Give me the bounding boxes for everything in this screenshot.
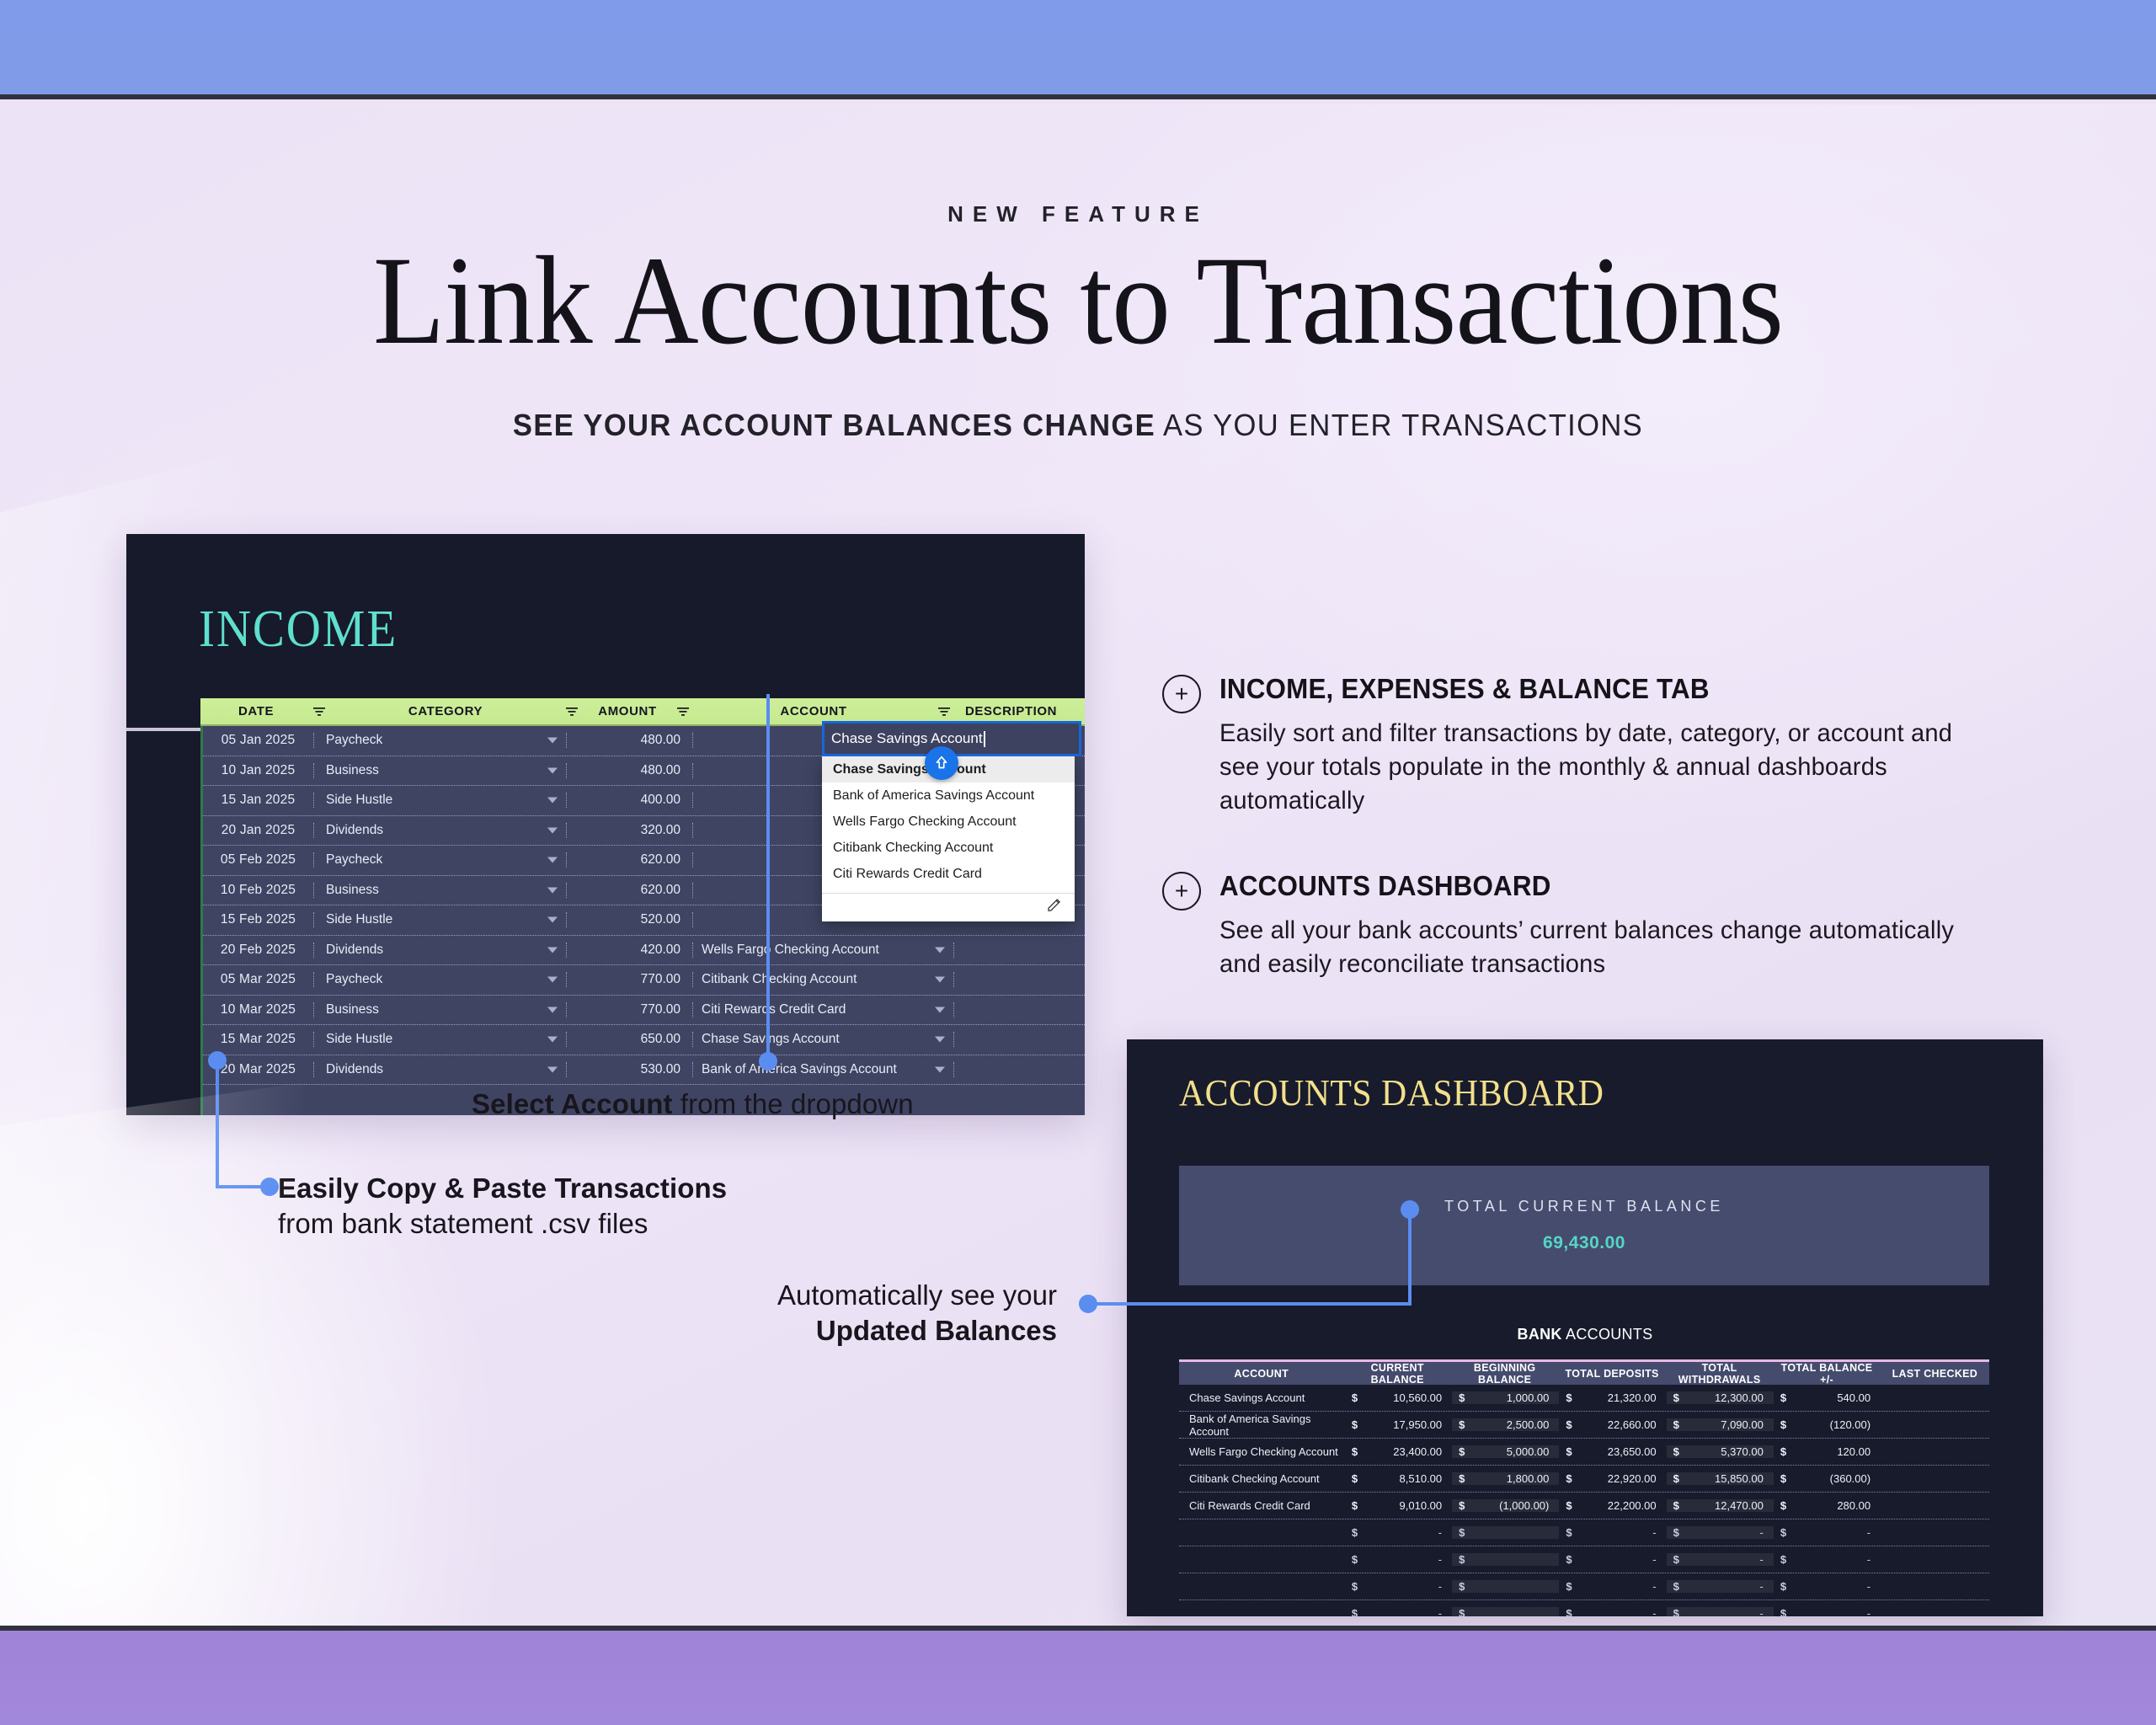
- subtitle-strong: SEE YOUR ACCOUNT BALANCES CHANGE: [513, 408, 1155, 442]
- money-value: -: [1367, 1553, 1452, 1566]
- money-value: -: [1689, 1607, 1774, 1616]
- cell-money[interactable]: $-: [1559, 1607, 1666, 1616]
- cell-money[interactable]: $120.00: [1774, 1445, 1881, 1458]
- bank-col-total-balance-pm: TOTAL BALANCE +/-: [1773, 1362, 1880, 1386]
- cell-amount[interactable]: 770.00: [567, 972, 693, 987]
- cell-account[interactable]: Chase Savings Account: [693, 1032, 954, 1047]
- currency-symbol: $: [1452, 1472, 1474, 1485]
- cell-money[interactable]: $-: [1559, 1553, 1666, 1566]
- total-current-balance-card: TOTAL CURRENT BALANCE 69,430.00: [1179, 1166, 1989, 1285]
- currency-symbol: $: [1667, 1445, 1689, 1458]
- chevron-down-icon[interactable]: [935, 977, 945, 983]
- currency-symbol: $: [1452, 1553, 1474, 1566]
- money-value: -: [1796, 1607, 1881, 1616]
- bank-col-beginning-balance: BEGINNING BALANCE: [1451, 1362, 1558, 1386]
- cell-amount[interactable]: 400.00: [567, 793, 693, 808]
- currency-symbol: $: [1559, 1499, 1581, 1512]
- currency-symbol: $: [1452, 1391, 1474, 1404]
- money-value: (1,000.00): [1474, 1499, 1559, 1512]
- cell-money[interactable]: $(120.00): [1774, 1418, 1881, 1431]
- cell-money[interactable]: $8,510.00: [1345, 1472, 1452, 1485]
- dropdown-option[interactable]: Wells Fargo Checking Account: [822, 809, 1075, 835]
- money-value: 23,400.00: [1367, 1445, 1452, 1458]
- table-row[interactable]: $-$$-$-$-: [1179, 1600, 1989, 1616]
- chevron-down-icon[interactable]: [547, 947, 558, 953]
- dropdown-option[interactable]: Bank of America Savings Account: [822, 782, 1075, 809]
- currency-symbol: $: [1667, 1391, 1689, 1404]
- cell-category[interactable]: Paycheck: [314, 972, 567, 987]
- filter-icon-category[interactable]: [564, 707, 579, 717]
- table-row[interactable]: Citi Rewards Credit Card$9,010.00$(1,000…: [1179, 1493, 1989, 1519]
- cell-category[interactable]: Side Hustle: [314, 793, 567, 808]
- cell-date[interactable]: 05 Feb 2025: [203, 852, 314, 868]
- table-row[interactable]: 20 Mar 2025Dividends530.00Bank of Americ…: [203, 1055, 1085, 1086]
- currency-symbol: $: [1774, 1607, 1796, 1616]
- currency-symbol: $: [1559, 1553, 1581, 1566]
- cell-date[interactable]: 15 Mar 2025: [203, 1032, 314, 1047]
- cursor-badge-icon: [925, 746, 958, 780]
- filter-icon-amount[interactable]: [675, 707, 691, 717]
- cell-money[interactable]: $: [1452, 1607, 1559, 1616]
- currency-symbol: $: [1774, 1445, 1796, 1458]
- feature-item-accounts-dashboard: + ACCOUNTS DASHBOARD See all your bank a…: [1162, 870, 1996, 981]
- cell-date[interactable]: 05 Jan 2025: [203, 733, 314, 748]
- cell-money[interactable]: $23,400.00: [1345, 1445, 1452, 1458]
- filter-icon-account[interactable]: [937, 707, 952, 717]
- currency-symbol: $: [1452, 1526, 1474, 1539]
- dropdown-option[interactable]: Citibank Checking Account: [822, 835, 1075, 861]
- cell-account-name[interactable]: Bank of America Savings Account: [1179, 1413, 1345, 1438]
- currency-symbol: $: [1345, 1445, 1367, 1458]
- chevron-down-icon[interactable]: [547, 827, 558, 833]
- money-value: -: [1581, 1553, 1666, 1566]
- money-value: -: [1367, 1607, 1452, 1616]
- cell-date[interactable]: 15 Feb 2025: [203, 912, 314, 927]
- table-row[interactable]: Citibank Checking Account$8,510.00$1,800…: [1179, 1466, 1989, 1493]
- currency-symbol: $: [1559, 1391, 1581, 1404]
- poster-stage: NEW FEATURE Link Accounts to Transaction…: [0, 104, 2156, 1626]
- cell-money[interactable]: $-: [1667, 1526, 1774, 1539]
- cell-money[interactable]: $280.00: [1774, 1499, 1881, 1512]
- cell-amount[interactable]: 530.00: [567, 1062, 693, 1077]
- currency-symbol: $: [1452, 1418, 1474, 1431]
- table-row[interactable]: 10 Mar 2025Business770.00Citi Rewards Cr…: [203, 996, 1085, 1026]
- top-decorative-band: [0, 0, 2156, 99]
- currency-symbol: $: [1559, 1418, 1581, 1431]
- cell-account[interactable]: Citibank Checking Account: [693, 972, 954, 987]
- cell-category[interactable]: Dividends: [314, 1062, 567, 1077]
- money-value: 23,650.00: [1581, 1445, 1666, 1458]
- cell-account-name[interactable]: Citibank Checking Account: [1179, 1472, 1345, 1485]
- bank-col-total-withdrawals: TOTAL WITHDRAWALS: [1666, 1362, 1773, 1386]
- money-value: 5,370.00: [1689, 1445, 1774, 1458]
- cell-money[interactable]: $21,320.00: [1559, 1391, 1666, 1404]
- subtitle-light: AS YOU ENTER TRANSACTIONS: [1155, 408, 1643, 442]
- currency-symbol: $: [1774, 1553, 1796, 1566]
- currency-symbol: $: [1452, 1499, 1474, 1512]
- cell-amount[interactable]: 480.00: [567, 733, 693, 748]
- money-value: 12,300.00: [1689, 1391, 1774, 1404]
- cell-money[interactable]: $-: [1559, 1580, 1666, 1593]
- cell-money[interactable]: $-: [1345, 1580, 1452, 1593]
- cell-account[interactable]: Bank of America Savings Account: [693, 1062, 954, 1077]
- account-cell-editor-value: Chase Savings Account: [831, 730, 983, 747]
- cell-money[interactable]: $-: [1774, 1580, 1881, 1593]
- page-subtitle: SEE YOUR ACCOUNT BALANCES CHANGE AS YOU …: [43, 408, 2113, 443]
- cell-money[interactable]: $: [1452, 1580, 1559, 1593]
- currency-symbol: $: [1345, 1472, 1367, 1485]
- column-header-date[interactable]: DATE: [200, 698, 312, 724]
- currency-symbol: $: [1774, 1526, 1796, 1539]
- plus-circle-icon: +: [1162, 675, 1201, 713]
- text-caret: [984, 731, 985, 747]
- money-value: (360.00): [1796, 1472, 1881, 1485]
- money-value: -: [1796, 1526, 1881, 1539]
- page-title: Link Accounts to Transactions: [76, 235, 2081, 368]
- money-value: 17,950.00: [1367, 1418, 1452, 1431]
- currency-symbol: $: [1345, 1607, 1367, 1616]
- cell-category[interactable]: Paycheck: [314, 733, 567, 748]
- callout-updated-balances: Automatically see your Updated Balances: [670, 1279, 1057, 1347]
- chevron-down-icon[interactable]: [547, 738, 558, 744]
- cell-amount[interactable]: 320.00: [567, 823, 693, 838]
- money-value: 5,000.00: [1474, 1445, 1559, 1458]
- cell-money[interactable]: $5,000.00: [1452, 1445, 1559, 1458]
- money-value: -: [1581, 1607, 1666, 1616]
- dropdown-option[interactable]: Citi Rewards Credit Card: [822, 861, 1075, 887]
- chevron-down-icon[interactable]: [935, 1007, 945, 1012]
- cell-amount[interactable]: 770.00: [567, 1002, 693, 1017]
- cell-date[interactable]: 05 Mar 2025: [203, 972, 314, 987]
- money-value: -: [1796, 1580, 1881, 1593]
- money-value: -: [1796, 1553, 1881, 1566]
- cell-money[interactable]: $9,010.00: [1345, 1499, 1452, 1512]
- feature-title: ACCOUNTS DASHBOARD: [1219, 870, 1957, 902]
- currency-symbol: $: [1345, 1580, 1367, 1593]
- currency-symbol: $: [1559, 1472, 1581, 1485]
- cell-date[interactable]: 20 Feb 2025: [203, 943, 314, 958]
- cell-money[interactable]: $2,500.00: [1452, 1418, 1559, 1431]
- money-value: 2,500.00: [1474, 1418, 1559, 1431]
- currency-symbol: $: [1452, 1580, 1474, 1593]
- cell-money[interactable]: $17,950.00: [1345, 1418, 1452, 1431]
- cell-money[interactable]: $22,200.00: [1559, 1499, 1666, 1512]
- money-value: 9,010.00: [1367, 1499, 1452, 1512]
- cell-amount[interactable]: 420.00: [567, 943, 693, 958]
- currency-symbol: $: [1559, 1607, 1581, 1616]
- cell-money[interactable]: $-: [1667, 1580, 1774, 1593]
- cell-money[interactable]: $12,470.00: [1667, 1499, 1774, 1512]
- table-row[interactable]: 15 Mar 2025Side Hustle650.00Chase Saving…: [203, 1025, 1085, 1055]
- feature-body: Easily sort and filter transactions by d…: [1219, 717, 1972, 818]
- account-dropdown-list[interactable]: Chase Savings AccountBank of America Sav…: [822, 756, 1075, 921]
- cell-account-name[interactable]: Chase Savings Account: [1179, 1391, 1345, 1404]
- bottom-decorative-band: [0, 1626, 2156, 1725]
- dropdown-footer: [822, 893, 1075, 921]
- chevron-down-icon[interactable]: [547, 1066, 558, 1072]
- cell-amount[interactable]: 520.00: [567, 912, 693, 927]
- currency-symbol: $: [1774, 1391, 1796, 1404]
- currency-symbol: $: [1345, 1553, 1367, 1566]
- callout-copy-paste: Easily Copy & Paste Transactions from ba…: [278, 1172, 727, 1240]
- cell-date[interactable]: 15 Jan 2025: [203, 793, 314, 808]
- currency-symbol: $: [1774, 1499, 1796, 1512]
- cell-money[interactable]: $22,660.00: [1559, 1418, 1666, 1431]
- currency-symbol: $: [1774, 1418, 1796, 1431]
- chevron-down-icon[interactable]: [547, 917, 558, 923]
- currency-symbol: $: [1667, 1526, 1689, 1539]
- currency-symbol: $: [1559, 1445, 1581, 1458]
- cell-money[interactable]: $12,300.00: [1667, 1391, 1774, 1404]
- cell-account[interactable]: Wells Fargo Checking Account: [693, 943, 954, 958]
- bank-col-last-checked: LAST CHECKED: [1881, 1368, 1989, 1380]
- chevron-down-icon[interactable]: [935, 1037, 945, 1043]
- cell-money[interactable]: $-: [1667, 1607, 1774, 1616]
- chevron-down-icon[interactable]: [935, 947, 945, 953]
- currency-symbol: $: [1559, 1526, 1581, 1539]
- money-value: 22,660.00: [1581, 1418, 1666, 1431]
- cell-amount[interactable]: 620.00: [567, 883, 693, 898]
- money-value: 12,470.00: [1689, 1499, 1774, 1512]
- table-row[interactable]: $-$$-$-$-: [1179, 1519, 1989, 1546]
- money-value: 280.00: [1796, 1499, 1881, 1512]
- money-value: 21,320.00: [1581, 1391, 1666, 1404]
- chevron-down-icon[interactable]: [547, 977, 558, 983]
- currency-symbol: $: [1345, 1499, 1367, 1512]
- cell-money[interactable]: $: [1452, 1553, 1559, 1566]
- currency-symbol: $: [1774, 1580, 1796, 1593]
- currency-symbol: $: [1667, 1580, 1689, 1593]
- table-row[interactable]: $-$$-$-$-: [1179, 1573, 1989, 1600]
- currency-symbol: $: [1452, 1607, 1474, 1616]
- chevron-down-icon[interactable]: [547, 767, 558, 773]
- dashboard-title: ACCOUNTS DASHBOARD: [1179, 1071, 1604, 1114]
- filter-icon-date[interactable]: [312, 707, 327, 717]
- money-value: 8,510.00: [1367, 1472, 1452, 1485]
- cell-account-name[interactable]: Citi Rewards Credit Card: [1179, 1499, 1345, 1512]
- feature-body: See all your bank accounts’ current bala…: [1219, 914, 1972, 981]
- income-panel-title: INCOME: [199, 600, 398, 660]
- currency-symbol: $: [1667, 1553, 1689, 1566]
- currency-symbol: $: [1774, 1472, 1796, 1485]
- money-value: 1,800.00: [1474, 1472, 1559, 1485]
- total-balance-value: 69,430.00: [1179, 1233, 1989, 1253]
- currency-symbol: $: [1452, 1445, 1474, 1458]
- plus-circle-icon: +: [1162, 872, 1201, 911]
- table-row[interactable]: 20 Feb 2025Dividends420.00Wells Fargo Ch…: [203, 936, 1085, 966]
- currency-symbol: $: [1667, 1472, 1689, 1485]
- money-value: 7,090.00: [1689, 1418, 1774, 1431]
- cell-account[interactable]: Citi Rewards Credit Card: [693, 1002, 954, 1017]
- callout-select-account: Select Account from the dropdown: [472, 1088, 914, 1120]
- bank-accounts-caption: BANK ACCOUNTS: [1127, 1326, 2043, 1343]
- currency-symbol: $: [1345, 1391, 1367, 1404]
- chevron-down-icon[interactable]: [935, 1066, 945, 1072]
- cell-money[interactable]: $-: [1774, 1607, 1881, 1616]
- cell-money[interactable]: $(360.00): [1774, 1472, 1881, 1485]
- money-value: -: [1581, 1526, 1666, 1539]
- money-value: (120.00): [1796, 1418, 1881, 1431]
- feature-list: + INCOME, EXPENSES & BALANCE TAB Easily …: [1162, 673, 1996, 1033]
- bank-col-total-deposits: TOTAL DEPOSITS: [1558, 1368, 1665, 1380]
- cell-money[interactable]: $540.00: [1774, 1391, 1881, 1404]
- cell-money[interactable]: $-: [1774, 1553, 1881, 1566]
- money-value: -: [1689, 1526, 1774, 1539]
- column-header-category[interactable]: CATEGORY: [327, 698, 564, 724]
- cell-amount[interactable]: 620.00: [567, 852, 693, 868]
- feature-title: INCOME, EXPENSES & BALANCE TAB: [1219, 673, 1957, 705]
- table-row[interactable]: $-$$-$-$-: [1179, 1546, 1989, 1573]
- total-balance-label: TOTAL CURRENT BALANCE: [1179, 1198, 1989, 1215]
- eyebrow-label: NEW FEATURE: [0, 201, 2156, 227]
- sheet-left-gutter: [126, 728, 200, 1115]
- cell-money[interactable]: $-: [1345, 1607, 1452, 1616]
- cell-money[interactable]: $-: [1345, 1526, 1452, 1539]
- bank-col-account: ACCOUNT: [1179, 1368, 1343, 1380]
- cell-amount[interactable]: 480.00: [567, 763, 693, 778]
- chevron-down-icon[interactable]: [547, 887, 558, 893]
- cell-amount[interactable]: 650.00: [567, 1032, 693, 1047]
- chevron-down-icon[interactable]: [547, 798, 558, 804]
- money-value: -: [1689, 1553, 1774, 1566]
- money-value: -: [1689, 1580, 1774, 1593]
- cell-money[interactable]: $-: [1559, 1526, 1666, 1539]
- chevron-down-icon[interactable]: [547, 857, 558, 863]
- cell-money[interactable]: $1,000.00: [1452, 1391, 1559, 1404]
- cell-money[interactable]: $22,920.00: [1559, 1472, 1666, 1485]
- cell-date[interactable]: 10 Feb 2025: [203, 883, 314, 898]
- cell-money[interactable]: $23,650.00: [1559, 1445, 1666, 1458]
- cell-money[interactable]: $5,370.00: [1667, 1445, 1774, 1458]
- cell-category[interactable]: Side Hustle: [314, 912, 567, 927]
- bank-accounts-table: ACCOUNT CURRENT BALANCE BEGINNING BALANC…: [1179, 1359, 1989, 1616]
- cell-category[interactable]: Side Hustle: [314, 1032, 567, 1047]
- chevron-down-icon[interactable]: [547, 1037, 558, 1043]
- column-header-amount[interactable]: AMOUNT: [579, 698, 675, 724]
- currency-symbol: $: [1667, 1418, 1689, 1431]
- bank-col-current-balance: CURRENT BALANCE: [1343, 1362, 1450, 1386]
- money-value: 1,000.00: [1474, 1391, 1559, 1404]
- currency-symbol: $: [1667, 1607, 1689, 1616]
- money-value: -: [1367, 1580, 1452, 1593]
- bank-table-header-row: ACCOUNT CURRENT BALANCE BEGINNING BALANC…: [1179, 1359, 1989, 1385]
- table-row[interactable]: Wells Fargo Checking Account$23,400.00$5…: [1179, 1439, 1989, 1466]
- money-value: 10,560.00: [1367, 1391, 1452, 1404]
- cell-date[interactable]: 20 Mar 2025: [203, 1062, 314, 1077]
- cell-date[interactable]: 10 Jan 2025: [203, 763, 314, 778]
- cell-category[interactable]: Dividends: [314, 943, 567, 958]
- accounts-dashboard-panel: ACCOUNTS DASHBOARD TOTAL CURRENT BALANCE…: [1127, 1039, 2043, 1616]
- cell-money[interactable]: $15,850.00: [1667, 1472, 1774, 1485]
- cell-date[interactable]: 20 Jan 2025: [203, 823, 314, 838]
- feature-item-income-expenses-balance-tab: + INCOME, EXPENSES & BALANCE TAB Easily …: [1162, 673, 1996, 818]
- money-value: 15,850.00: [1689, 1472, 1774, 1485]
- cell-money[interactable]: $: [1452, 1526, 1559, 1539]
- cell-money[interactable]: $-: [1345, 1553, 1452, 1566]
- currency-symbol: $: [1345, 1418, 1367, 1431]
- chevron-down-icon[interactable]: [547, 1007, 558, 1012]
- currency-symbol: $: [1345, 1526, 1367, 1539]
- pencil-edit-icon[interactable]: [1046, 897, 1063, 918]
- cell-account-name[interactable]: Wells Fargo Checking Account: [1179, 1445, 1345, 1458]
- cell-money[interactable]: $7,090.00: [1667, 1418, 1774, 1431]
- cell-category[interactable]: Business: [314, 763, 567, 778]
- cell-category[interactable]: Dividends: [314, 823, 567, 838]
- money-value: 120.00: [1796, 1445, 1881, 1458]
- cell-money[interactable]: $-: [1774, 1526, 1881, 1539]
- cell-category[interactable]: Paycheck: [314, 852, 567, 868]
- table-row[interactable]: 05 Mar 2025Paycheck770.00Citibank Checki…: [203, 965, 1085, 996]
- cell-date[interactable]: 10 Mar 2025: [203, 1002, 314, 1017]
- table-row[interactable]: Bank of America Savings Account$17,950.0…: [1179, 1412, 1989, 1439]
- table-row[interactable]: Chase Savings Account$10,560.00$1,000.00…: [1179, 1385, 1989, 1412]
- cell-category[interactable]: Business: [314, 883, 567, 898]
- money-value: 22,200.00: [1581, 1499, 1666, 1512]
- money-value: -: [1367, 1526, 1452, 1539]
- money-value: 540.00: [1796, 1391, 1881, 1404]
- cell-money[interactable]: $-: [1667, 1553, 1774, 1566]
- currency-symbol: $: [1559, 1580, 1581, 1593]
- cell-money[interactable]: $1,800.00: [1452, 1472, 1559, 1485]
- income-spreadsheet-panel: INCOME DATE CATEGORY AMOUNT ACCOUNT: [126, 534, 1085, 1115]
- money-value: -: [1581, 1580, 1666, 1593]
- cell-category[interactable]: Business: [314, 1002, 567, 1017]
- money-value: 22,920.00: [1581, 1472, 1666, 1485]
- currency-symbol: $: [1667, 1499, 1689, 1512]
- cell-money[interactable]: $10,560.00: [1345, 1391, 1452, 1404]
- cell-money[interactable]: $(1,000.00): [1452, 1499, 1559, 1512]
